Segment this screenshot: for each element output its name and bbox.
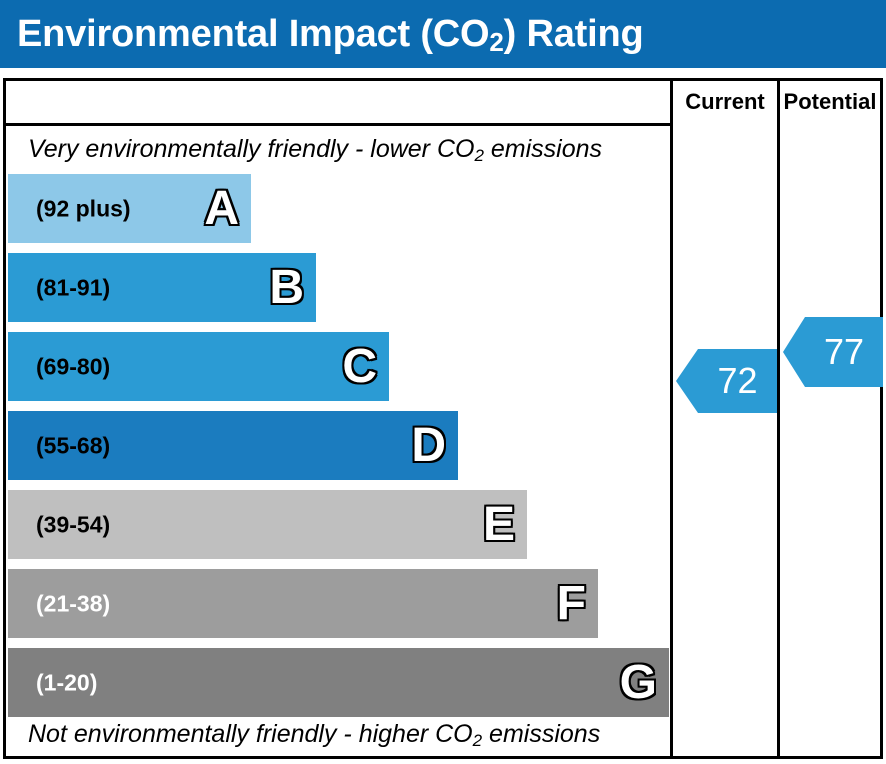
rating-value-potential: 77: [805, 334, 883, 370]
chart-header-banner: Environmental Impact (CO2) Rating: [0, 0, 886, 68]
band-range-label: (69-80): [36, 355, 110, 378]
rating-band-e: (39-54)E: [8, 490, 527, 559]
column-header-potential: Potential: [780, 81, 880, 123]
page-title: Environmental Impact (CO2) Rating: [17, 15, 643, 53]
band-range-label: (81-91): [36, 276, 110, 299]
caption-top-suffix: emissions: [484, 135, 602, 163]
column-divider-current: [670, 81, 673, 756]
caption-top-subscript: 2: [474, 146, 483, 165]
rating-band-g: (1-20)G: [8, 648, 669, 717]
band-letter-d: D: [411, 422, 446, 470]
rating-arrow-current: 72: [676, 345, 777, 417]
column-divider-potential: [777, 81, 780, 756]
page-title-suffix: ) Rating: [504, 13, 644, 55]
band-letter-e: E: [483, 501, 515, 549]
caption-very-friendly: Very environmentally friendly - lower CO…: [28, 137, 602, 162]
rating-band-a: (92 plus)A: [8, 174, 251, 243]
column-header-current: Current: [673, 81, 777, 123]
band-range-label: (1-20): [36, 671, 97, 694]
rating-scale-area: Very environmentally friendly - lower CO…: [6, 126, 670, 756]
epc-environmental-impact-chart: Environmental Impact (CO2) Rating Curren…: [0, 0, 886, 764]
rating-value-current: 72: [698, 363, 777, 399]
caption-top-prefix: Very environmentally friendly - lower CO: [28, 135, 474, 163]
band-range-label: (39-54): [36, 513, 110, 536]
caption-not-friendly: Not environmentally friendly - higher CO…: [28, 722, 600, 747]
rating-band-c: (69-80)C: [8, 332, 389, 401]
caption-bottom-suffix: emissions: [482, 720, 600, 748]
band-letter-a: A: [204, 185, 239, 233]
rating-band-d: (55-68)D: [8, 411, 458, 480]
band-letter-c: C: [342, 343, 377, 391]
rating-band-b: (81-91)B: [8, 253, 316, 322]
band-letter-g: G: [620, 659, 657, 707]
band-letter-f: F: [557, 580, 586, 628]
rating-arrow-potential: 77: [783, 313, 883, 391]
rating-band-f: (21-38)F: [8, 569, 598, 638]
page-title-subscript: 2: [489, 27, 503, 57]
band-range-label: (55-68): [36, 434, 110, 457]
caption-bottom-prefix: Not environmentally friendly - higher CO: [28, 720, 473, 748]
rating-table: Current Potential Very environmentally f…: [3, 78, 883, 759]
band-letter-b: B: [269, 264, 304, 312]
caption-bottom-subscript: 2: [473, 731, 482, 750]
band-range-label: (92 plus): [36, 197, 131, 220]
band-range-label: (21-38): [36, 592, 110, 615]
page-title-prefix: Environmental Impact (CO: [17, 13, 489, 55]
